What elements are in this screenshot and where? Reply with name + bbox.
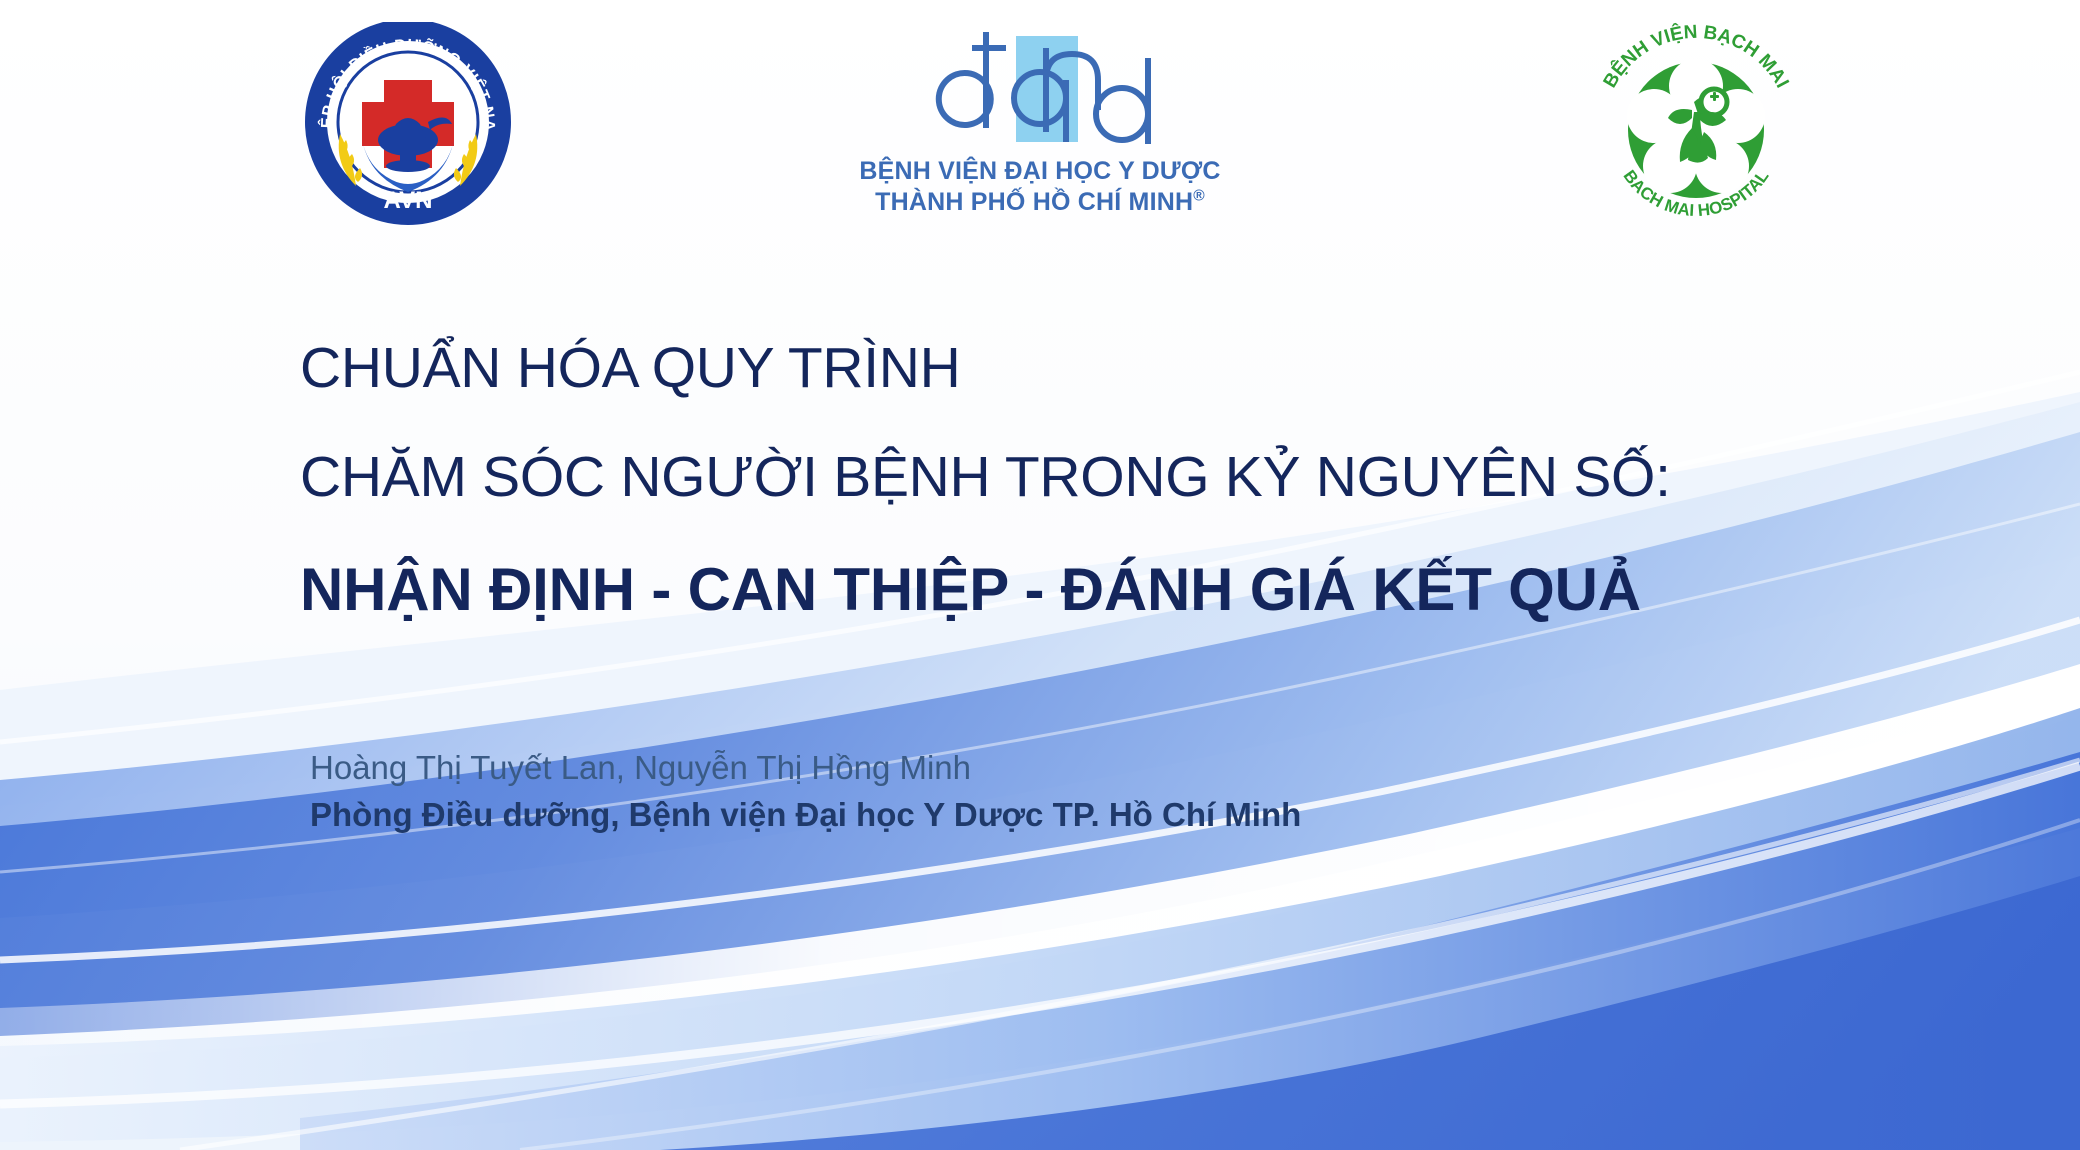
author-affiliation: Phòng Điều dưỡng, Bệnh viện Đại học Y Dư…	[310, 795, 1810, 835]
title-slide: HIỆP HỘI ĐIỀU DƯỠNG VIỆT NAM	[0, 0, 2080, 1150]
umc-caption: BỆNH VIỆN ĐẠI HỌC Y DƯỢC THÀNH PHỐ HỒ CH…	[800, 156, 1280, 217]
author-names: Hoàng Thị Tuyết Lan, Nguyễn Thị Hồng Min…	[310, 748, 1810, 788]
bach-mai-logo: BỆNH VIỆN BẠCH MAI BACH MAI HOSPITAL	[1588, 18, 1804, 230]
title-line-1: CHUẨN HÓA QUY TRÌNH	[300, 340, 2000, 397]
logo-row: HIỆP HỘI ĐIỀU DƯỠNG VIỆT NAM	[0, 0, 2080, 250]
umc-logo: BỆNH VIỆN ĐẠI HỌC Y DƯỢC THÀNH PHỐ HỒ CH…	[800, 18, 1280, 234]
title-line-2: CHĂM SÓC NGƯỜI BỆNH TRONG KỶ NGUYÊN SỐ:	[300, 449, 2000, 506]
title-line-3: NHẬN ĐỊNH - CAN THIỆP - ĐÁNH GIÁ KẾT QUẢ	[300, 560, 2000, 620]
avn-abbrev: AVN	[384, 187, 433, 214]
umc-caption-line1: BỆNH VIỆN ĐẠI HỌC Y DƯỢC	[859, 157, 1220, 185]
avn-logo: HIỆP HỘI ĐIỀU DƯỠNG VIỆT NAM	[292, 22, 524, 230]
title-block: CHUẨN HÓA QUY TRÌNH CHĂM SÓC NGƯỜI BỆNH …	[300, 340, 2000, 620]
umc-mark	[800, 18, 1280, 158]
umc-caption-line2: THÀNH PHỐ HỒ CHÍ MINH	[875, 188, 1193, 216]
registered-trademark-icon: ®	[1193, 187, 1205, 204]
authors-block: Hoàng Thị Tuyết Lan, Nguyễn Thị Hồng Min…	[310, 748, 1810, 834]
